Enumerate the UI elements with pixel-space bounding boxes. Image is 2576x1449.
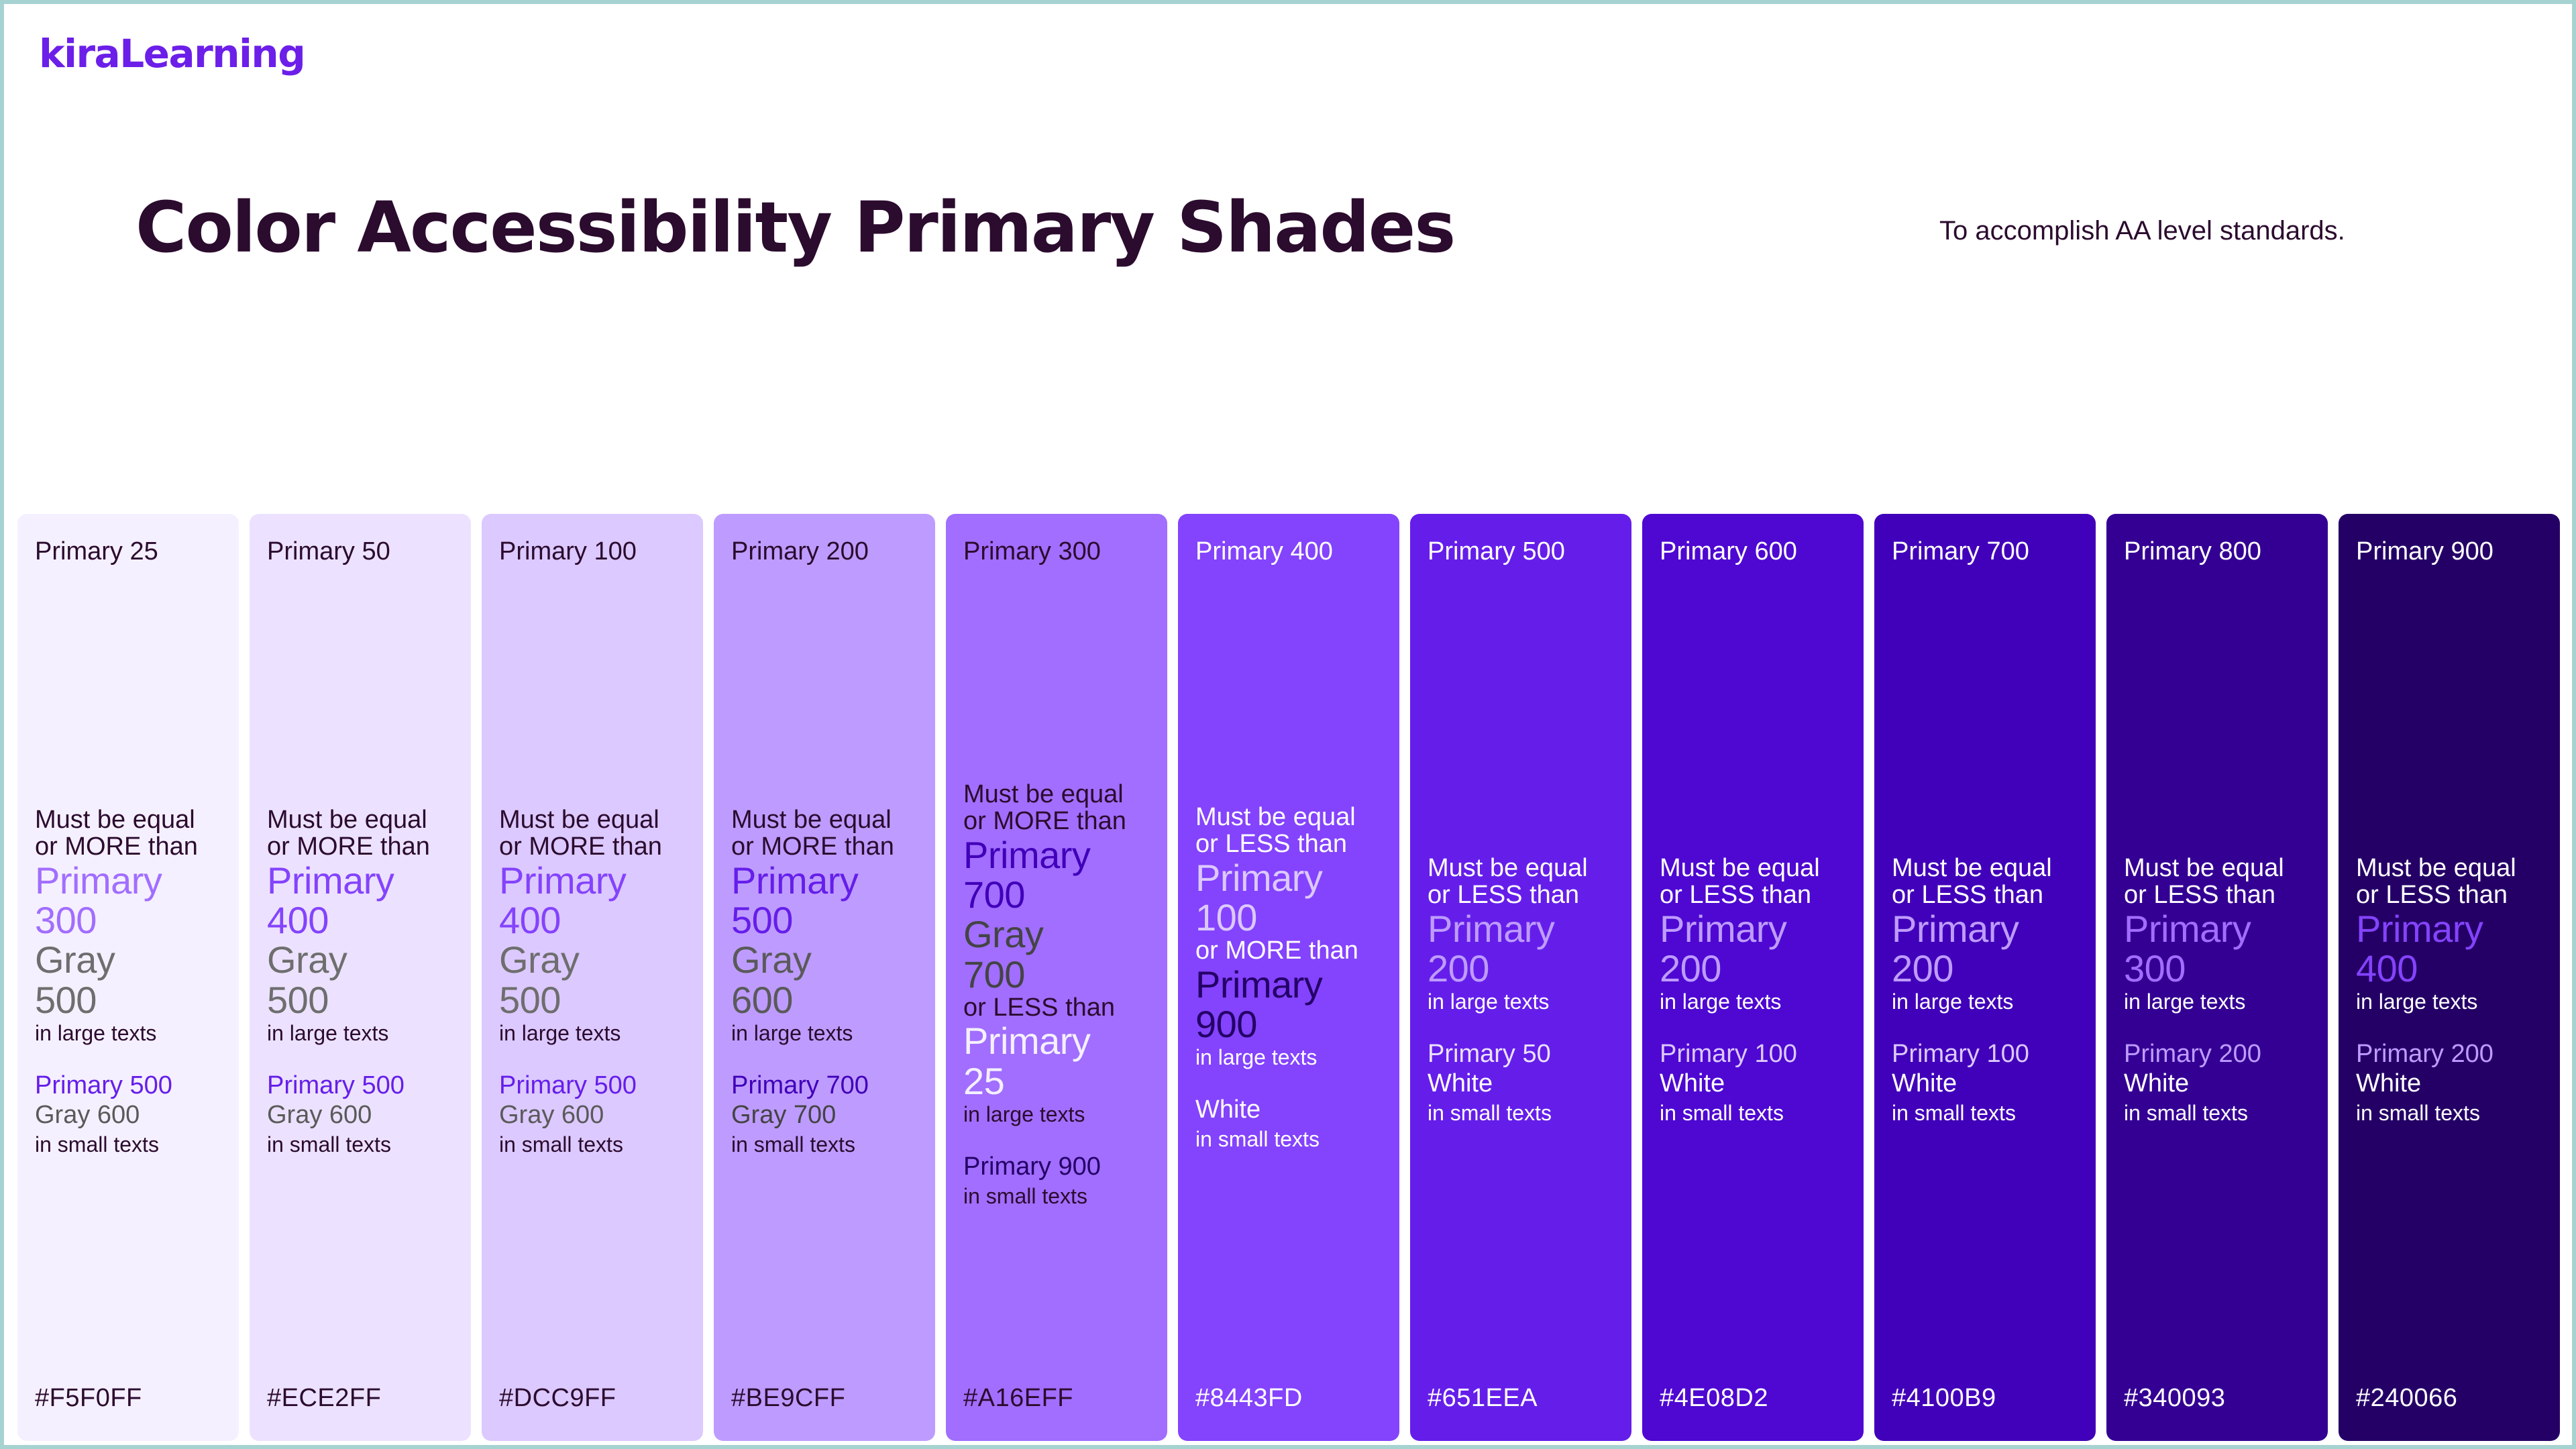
swatch-card[interactable]: Primary 900Must be equalor LESS thanPrim… [2339,514,2560,1441]
title-row: Color Accessibility Primary Shades To ac… [4,186,2572,274]
swatch-hex-value[interactable]: #340093 [2124,1384,2225,1413]
rule-size-note: in small texts [1195,1127,1387,1152]
small-text-rules: Primary 200Whitein small texts [2356,1039,2548,1126]
small-text-rules: Primary 100Whitein small texts [1660,1039,1851,1126]
rule-line: or MORE than [1195,937,1387,964]
rule-color-token: Primary 500 [499,1071,691,1100]
rule-size-note: in small texts [2124,1101,2316,1126]
rule-size-note: in small texts [2356,1101,2548,1126]
swatch-rules: Must be equalor MORE thanPrimary500Gray6… [731,806,923,1157]
swatch-hex-value[interactable]: #8443FD [1195,1384,1303,1413]
swatch-name: Primary 500 [1428,537,1614,568]
rule-line: 700 [963,955,1155,994]
rule-line: or LESS than [1195,830,1387,857]
rule-line: or LESS than [1892,881,2084,908]
swatch-hex-value[interactable]: #240066 [2356,1384,2457,1413]
rule-condition: Must be equalor LESS than [2124,855,2316,909]
rule-line: in large texts [2124,991,2316,1014]
small-text-rules: Primary 500Gray 600in small texts [35,1071,227,1157]
small-text-rules: Primary 500Gray 600in small texts [267,1071,459,1157]
rule-line: in large texts [1195,1046,1387,1069]
rule-condition: Must be equalor MORE than [731,806,923,861]
rule-line: 500 [267,980,459,1020]
rule-size-note: in small texts [1892,1101,2084,1126]
swatch-name: Primary 900 [2356,537,2542,568]
rule-color-token: Primary400 [499,861,691,941]
small-text-rules: Primary 900in small texts [963,1152,1155,1209]
swatch-rules: Must be equalor MORE thanPrimary300Gray5… [35,806,227,1157]
rule-line: in large texts [963,1104,1155,1126]
rule-condition: Must be equalor MORE than [499,806,691,861]
swatch-rules: Must be equalor LESS thanPrimary200in la… [1660,855,1851,1126]
rule-line: or LESS than [2124,881,2316,908]
rule-line: Must be equal [1195,804,1387,830]
rule-line: Must be equal [2124,855,2316,881]
rule-line: 900 [1195,1004,1387,1044]
rule-size-note: in large texts [731,1022,923,1045]
rule-size-note: in large texts [35,1022,227,1045]
rule-line: Must be equal [35,806,227,833]
rule-color-token: Gray 600 [499,1100,691,1130]
rule-line: Must be equal [1892,855,2084,881]
rule-condition: Must be equalor MORE than [35,806,227,861]
rule-color-token: Primary 100 [1892,1039,2084,1069]
rule-condition: Must be equalor MORE than [963,781,1155,835]
rule-line: Primary [731,861,923,900]
swatch-rules: Must be equalor LESS thanPrimary200in la… [1428,855,1619,1126]
rule-size-note: in large texts [267,1022,459,1045]
rule-line: Gray [267,940,459,979]
rule-size-note: in small texts [267,1132,459,1157]
rule-color-token: Primary900 [1195,965,1387,1044]
rule-line: in large texts [1660,991,1851,1014]
swatch-name: Primary 100 [499,537,686,568]
rule-line: 400 [2356,949,2548,988]
rule-line: 400 [267,900,459,940]
rule-color-token: Primary200 [1892,909,2084,989]
small-text-rules: Primary 700Gray 700in small texts [731,1071,923,1157]
rule-size-note: in small texts [963,1184,1155,1209]
rule-condition: Must be equalor LESS than [2356,855,2548,909]
swatch-hex-value[interactable]: #A16EFF [963,1384,1073,1413]
rule-size-note: in large texts [1195,1046,1387,1069]
swatch-hex-value[interactable]: #ECE2FF [267,1384,381,1413]
rule-size-note: in large texts [1892,991,2084,1014]
rule-line: Primary [1660,909,1851,949]
rule-condition: Must be equalor LESS than [1428,855,1619,909]
rule-line: Primary [1195,858,1387,898]
rule-line: 100 [1195,898,1387,937]
rule-color-token: Gray500 [267,940,459,1020]
rule-line: or LESS than [1428,881,1619,908]
rule-line: or MORE than [35,833,227,860]
swatch-card[interactable]: Primary 600Must be equalor LESS thanPrim… [1642,514,1864,1441]
rule-line: in large texts [499,1022,691,1045]
rule-color-token: Primary100 [1195,858,1387,938]
swatch-card[interactable]: Primary 25Must be equalor MORE thanPrima… [17,514,239,1441]
rule-color-token: White [2356,1069,2548,1098]
rule-size-note: in small texts [1660,1101,1851,1126]
rule-line: or LESS than [1660,881,1851,908]
swatch-name: Primary 700 [1892,537,2078,568]
rule-line: Must be equal [1660,855,1851,881]
rule-line: Primary [2356,909,2548,949]
rule-line: in large texts [1428,991,1619,1014]
swatch-hex-value[interactable]: #4100B9 [1892,1384,1996,1413]
rule-color-token: Primary500 [731,861,923,941]
rule-size-note: in large texts [2124,991,2316,1014]
rule-color-token: Primary25 [963,1021,1155,1101]
rule-condition: Must be equalor LESS than [1660,855,1851,909]
swatch-name: Primary 300 [963,537,1150,568]
rule-color-token: Gray 700 [731,1100,923,1130]
rule-line: or MORE than [267,833,459,860]
rule-condition: Must be equalor LESS than [1195,804,1387,858]
rule-line: Primary [1428,909,1619,949]
rule-condition: or MORE than [1195,937,1387,964]
rule-color-token: Gray 600 [35,1100,227,1130]
page-title: Color Accessibility Primary Shades [136,186,1454,269]
rule-color-token: White [1892,1069,2084,1098]
rule-line: 500 [731,900,923,940]
rule-size-note: in large texts [2356,991,2548,1014]
rule-line: 400 [499,900,691,940]
swatch-card[interactable]: Primary 300Must be equalor MORE thanPrim… [946,514,1167,1441]
rule-line: Primary [963,835,1155,875]
rule-line: Must be equal [499,806,691,833]
rule-color-token: White [2124,1069,2316,1098]
rule-line: Gray [731,940,923,979]
swatch-name: Primary 400 [1195,537,1382,568]
rule-line: or MORE than [731,833,923,860]
rule-line: 25 [963,1061,1155,1101]
rule-line: 500 [499,980,691,1020]
rule-line: Primary [1195,965,1387,1004]
rule-line: 700 [963,875,1155,914]
swatch-hex-value[interactable]: #BE9CFF [731,1384,845,1413]
swatch-grid: Primary 25Must be equalor MORE thanPrima… [17,514,2560,1441]
rule-condition: or LESS than [963,994,1155,1021]
rule-color-token: White [1195,1095,1387,1124]
brand-logo: kiraLearning [39,31,305,76]
swatch-hex-value[interactable]: #DCC9FF [499,1384,616,1413]
rule-size-note: in large texts [1660,991,1851,1014]
rule-line: Must be equal [1428,855,1619,881]
rule-size-note: in small texts [1428,1101,1619,1126]
small-text-rules: Primary 500Gray 600in small texts [499,1071,691,1157]
rule-color-token: Primary 700 [731,1071,923,1100]
swatch-rules: Must be equalor MORE thanPrimary400Gray5… [499,806,691,1157]
swatch-name: Primary 600 [1660,537,1846,568]
rule-line: Primary [963,1021,1155,1061]
rule-color-token: Primary 500 [35,1071,227,1100]
rule-line: in large texts [1892,991,2084,1014]
swatch-card[interactable]: Primary 50Must be equalor MORE thanPrima… [250,514,471,1441]
rule-size-note: in small texts [731,1132,923,1157]
swatch-card[interactable]: Primary 500Must be equalor LESS thanPrim… [1410,514,1631,1441]
page-subtitle: To accomplish AA level standards. [1939,216,2345,246]
rule-line: Must be equal [731,806,923,833]
rule-color-token: Gray600 [731,940,923,1020]
rule-line: 300 [35,900,227,940]
rule-color-token: White [1660,1069,1851,1098]
rule-size-note: in large texts [499,1022,691,1045]
swatch-name: Primary 800 [2124,537,2310,568]
swatch-card[interactable]: Primary 700Must be equalor LESS thanPrim… [1874,514,2096,1441]
rule-color-token: Primary700 [963,835,1155,915]
rule-color-token: Gray500 [35,940,227,1020]
rule-color-token: Primary400 [2356,909,2548,989]
rule-size-note: in small texts [35,1132,227,1157]
rule-color-token: Primary 100 [1660,1039,1851,1069]
rule-color-token: Gray500 [499,940,691,1020]
swatch-card[interactable]: Primary 400Must be equalor LESS thanPrim… [1178,514,1399,1441]
rule-line: 600 [731,980,923,1020]
rule-line: in large texts [731,1022,923,1045]
rule-color-token: Primary200 [1428,909,1619,989]
rule-line: Primary [267,861,459,900]
rule-line: Primary [35,861,227,900]
rule-line: 300 [2124,949,2316,988]
swatch-name: Primary 200 [731,537,918,568]
rule-line: Gray [35,940,227,979]
swatch-card[interactable]: Primary 200Must be equalor MORE thanPrim… [714,514,935,1441]
swatch-rules: Must be equalor LESS thanPrimary300in la… [2124,855,2316,1126]
rule-condition: Must be equalor LESS than [1892,855,2084,909]
swatch-rules: Must be equalor LESS thanPrimary100or MO… [1195,804,1387,1152]
rule-color-token: Primary 200 [2124,1039,2316,1069]
rule-color-token: Primary 900 [963,1152,1155,1181]
rule-line: or MORE than [963,808,1155,835]
swatch-hex-value[interactable]: #4E08D2 [1660,1384,1768,1413]
swatch-rules: Must be equalor MORE thanPrimary700Gray7… [963,781,1155,1209]
rule-color-token: Primary400 [267,861,459,941]
swatch-rules: Must be equalor LESS thanPrimary200in la… [1892,855,2084,1126]
rule-size-note: in large texts [1428,991,1619,1014]
rule-line: 200 [1892,949,2084,988]
swatch-card[interactable]: Primary 100Must be equalor MORE thanPrim… [482,514,703,1441]
rule-color-token: Primary300 [2124,909,2316,989]
rule-line: Primary [2124,909,2316,949]
rule-color-token: Gray700 [963,914,1155,994]
rule-color-token: Primary 200 [2356,1039,2548,1069]
rule-line: in large texts [35,1022,227,1045]
small-text-rules: Primary 100Whitein small texts [1892,1039,2084,1126]
swatch-name: Primary 50 [267,537,453,568]
rule-line: Primary [1892,909,2084,949]
rule-line: or LESS than [963,994,1155,1021]
rule-line: Gray [499,940,691,979]
rule-line: in large texts [2356,991,2548,1014]
small-text-rules: Whitein small texts [1195,1095,1387,1152]
rule-line: in large texts [267,1022,459,1045]
rule-line: or MORE than [499,833,691,860]
rule-color-token: Primary200 [1660,909,1851,989]
swatch-hex-value[interactable]: #F5F0FF [35,1384,142,1413]
rule-line: 200 [1660,949,1851,988]
rule-line: Must be equal [2356,855,2548,881]
rule-size-note: in small texts [499,1132,691,1157]
swatch-rules: Must be equalor LESS thanPrimary400in la… [2356,855,2548,1126]
rule-color-token: Gray 600 [267,1100,459,1130]
rule-size-note: in large texts [963,1104,1155,1126]
rule-line: Gray [963,914,1155,954]
swatch-card[interactable]: Primary 800Must be equalor LESS thanPrim… [2106,514,2328,1441]
rule-color-token: Primary300 [35,861,227,941]
rule-line: 500 [35,980,227,1020]
rule-line: 200 [1428,949,1619,988]
rule-line: Primary [499,861,691,900]
rule-color-token: White [1428,1069,1619,1098]
rule-color-token: Primary 500 [267,1071,459,1100]
swatch-rules: Must be equalor MORE thanPrimary400Gray5… [267,806,459,1157]
swatch-hex-value[interactable]: #651EEA [1428,1384,1538,1413]
rule-color-token: Primary 50 [1428,1039,1619,1069]
rule-condition: Must be equalor MORE than [267,806,459,861]
small-text-rules: Primary 200Whitein small texts [2124,1039,2316,1126]
rule-line: Must be equal [963,781,1155,808]
rule-line: Must be equal [267,806,459,833]
small-text-rules: Primary 50Whitein small texts [1428,1039,1619,1126]
rule-line: or LESS than [2356,881,2548,908]
swatch-name: Primary 25 [35,537,221,568]
